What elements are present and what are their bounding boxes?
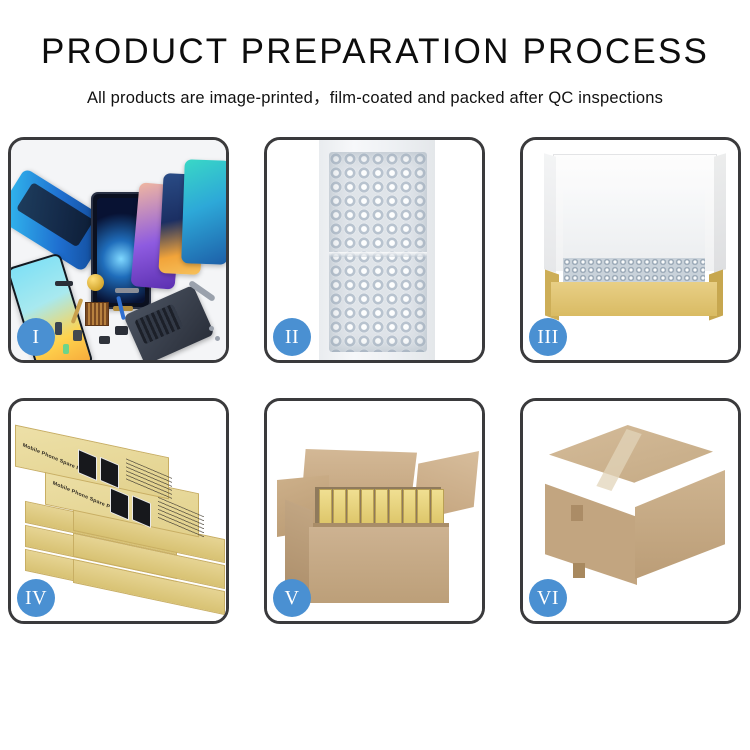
wrap-seam [329, 252, 427, 257]
box-screen-image [100, 457, 119, 489]
page-subtitle: All products are image-printed，film-coat… [0, 84, 750, 108]
bubble-wrapped-contents [563, 258, 705, 284]
step-panel-6: VI [520, 398, 741, 624]
carton-front-face [545, 475, 637, 585]
process-grid: I II III [8, 137, 742, 624]
step-panel-5: V [264, 398, 485, 624]
coil-component [87, 274, 104, 291]
step-panel-3: III [520, 137, 741, 363]
chip-component [85, 302, 109, 326]
box-front-panel [551, 282, 717, 316]
part-button [73, 330, 82, 341]
box-interior [563, 190, 705, 262]
page-title: PRODUCT PREPARATION PROCESS [0, 34, 750, 71]
screw-icon [209, 326, 214, 331]
step-badge-1: I [17, 318, 55, 356]
box-screen-image [132, 495, 151, 528]
page-header: PRODUCT PREPARATION PROCESS All products… [0, 0, 750, 108]
step-panel-4: Mobile Phone Spare Parts Mobile Phone Sp… [8, 398, 229, 624]
carton-seal-bottom [573, 563, 585, 578]
step-badge-6: VI [529, 579, 567, 617]
step-badge-3: III [529, 318, 567, 356]
part-speaker [55, 281, 73, 286]
step-badge-2: II [273, 318, 311, 356]
screw-icon [215, 336, 220, 341]
step-panel-2: II [264, 137, 485, 363]
phone-display-teal [181, 159, 226, 265]
carton-seal-top [571, 505, 583, 521]
step-badge-4: IV [17, 579, 55, 617]
step-panel-1: I [8, 137, 229, 363]
carton-right-face [635, 463, 725, 579]
part-camera [115, 326, 128, 335]
step-badge-5: V [273, 579, 311, 617]
part-green-chip [63, 344, 69, 354]
box-screen-image [110, 487, 129, 520]
part-module [99, 336, 110, 344]
carton-front-face [309, 527, 449, 603]
part-connector [55, 322, 62, 335]
part-bracket [115, 288, 139, 293]
box-screen-image [78, 449, 97, 481]
